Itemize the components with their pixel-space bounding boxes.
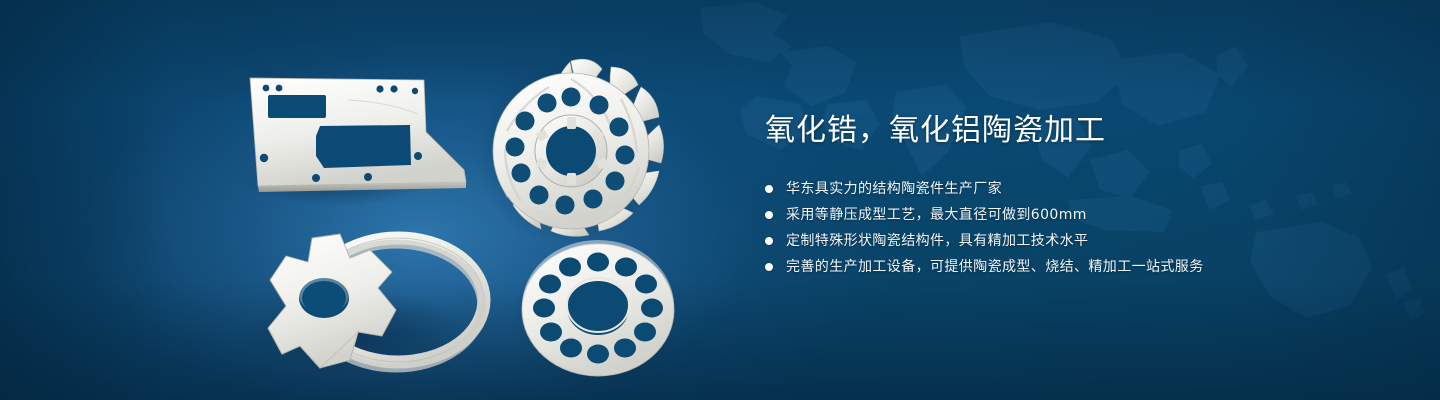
dot-bullet-icon [765, 185, 773, 193]
banner-copy: 氧化锆，氧化铝陶瓷加工 华东具实力的结构陶瓷件生产厂家 采用等静压成型工艺，最大… [765, 112, 1385, 282]
ceramic-processing-banner: 氧化锆，氧化铝陶瓷加工 华东具实力的结构陶瓷件生产厂家 采用等静压成型工艺，最大… [0, 0, 1440, 400]
list-item: 完善的生产加工设备，可提供陶瓷成型、烧结、精加工一站式服务 [765, 256, 1385, 278]
feature-text: 定制特殊形状陶瓷结构件，具有精加工技术水平 [786, 230, 1088, 252]
feature-text: 华东具实力的结构陶瓷件生产厂家 [786, 178, 1002, 200]
ceramic-products-group [228, 40, 728, 385]
list-item: 定制特殊形状陶瓷结构件，具有精加工技术水平 [765, 230, 1385, 252]
dot-bullet-icon [765, 263, 773, 271]
ceramic-perforated-ring [514, 238, 682, 385]
page-title: 氧化锆，氧化铝陶瓷加工 [765, 112, 1385, 150]
ceramic-impeller-disc [475, 59, 667, 247]
feature-text: 采用等静压成型工艺，最大直径可做到600mm [786, 204, 1087, 226]
list-item: 采用等静压成型工艺，最大直径可做到600mm [765, 204, 1385, 226]
dot-bullet-icon [765, 211, 773, 219]
ceramic-cross-plate [244, 234, 484, 374]
feature-list: 华东具实力的结构陶瓷件生产厂家 采用等静压成型工艺，最大直径可做到600mm 定… [765, 178, 1385, 278]
dot-bullet-icon [765, 237, 773, 245]
ceramic-machined-plate [243, 78, 466, 206]
list-item: 华东具实力的结构陶瓷件生产厂家 [765, 178, 1385, 200]
feature-text: 完善的生产加工设备，可提供陶瓷成型、烧结、精加工一站式服务 [786, 256, 1204, 278]
